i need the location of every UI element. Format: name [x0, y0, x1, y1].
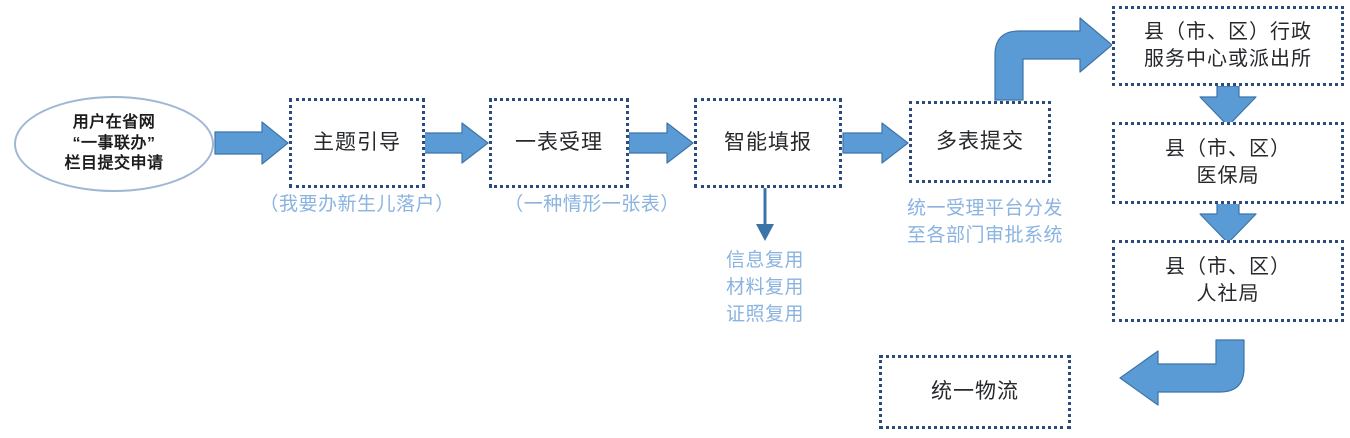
arrow-step4-to-dept1 — [995, 18, 1112, 100]
step-node-duobiao-tijiao[interactable]: 多表提交 — [909, 101, 1051, 183]
start-node[interactable]: 用户在省网 “一事联办” 栏目提交申请 — [14, 96, 214, 192]
dept-node-xingzheng-fuwu-zhongxin[interactable]: 县（市、区）行政 服务中心或派出所 — [1112, 6, 1344, 86]
arrow-start-to-step1 — [215, 122, 288, 164]
arrow-dept2-to-dept3 — [1200, 203, 1256, 243]
dept-node-rensheju[interactable]: 县（市、区） 人社局 — [1112, 240, 1344, 322]
arrow-dept3-to-logistics — [1120, 340, 1244, 405]
arrow-step3-to-step4 — [843, 123, 908, 163]
arrow-dept1-to-dept2 — [1200, 86, 1256, 126]
arrow-step2-to-step3 — [629, 123, 693, 163]
step-node-yibiao-shouli[interactable]: 一表受理 — [489, 98, 629, 188]
step-caption-zhuti-yindao: （我要办新生儿落户） — [237, 192, 477, 219]
dept-node-yibao-ju[interactable]: 县（市、区） 医保局 — [1112, 122, 1344, 204]
step-caption-duobiao-tijiao: 统一受理平台分发 至各部门审批系统 — [880, 196, 1090, 250]
step-node-zhuti-yindao[interactable]: 主题引导 — [289, 98, 425, 188]
step-caption-yibiao-shouli: （一种情形一张表） — [477, 192, 707, 219]
flowchart-canvas: 用户在省网 “一事联办” 栏目提交申请 主题引导 （我要办新生儿落户） 一表受理… — [0, 0, 1350, 438]
logistics-node[interactable]: 统一物流 — [879, 355, 1071, 429]
step-node-zhineng-tianbao[interactable]: 智能填报 — [694, 98, 842, 188]
arrow-step1-to-step2 — [424, 123, 488, 163]
arrow-step3-to-reuse-head — [756, 224, 774, 241]
reuse-note: 信息复用 材料复用 证照复用 — [685, 248, 845, 329]
